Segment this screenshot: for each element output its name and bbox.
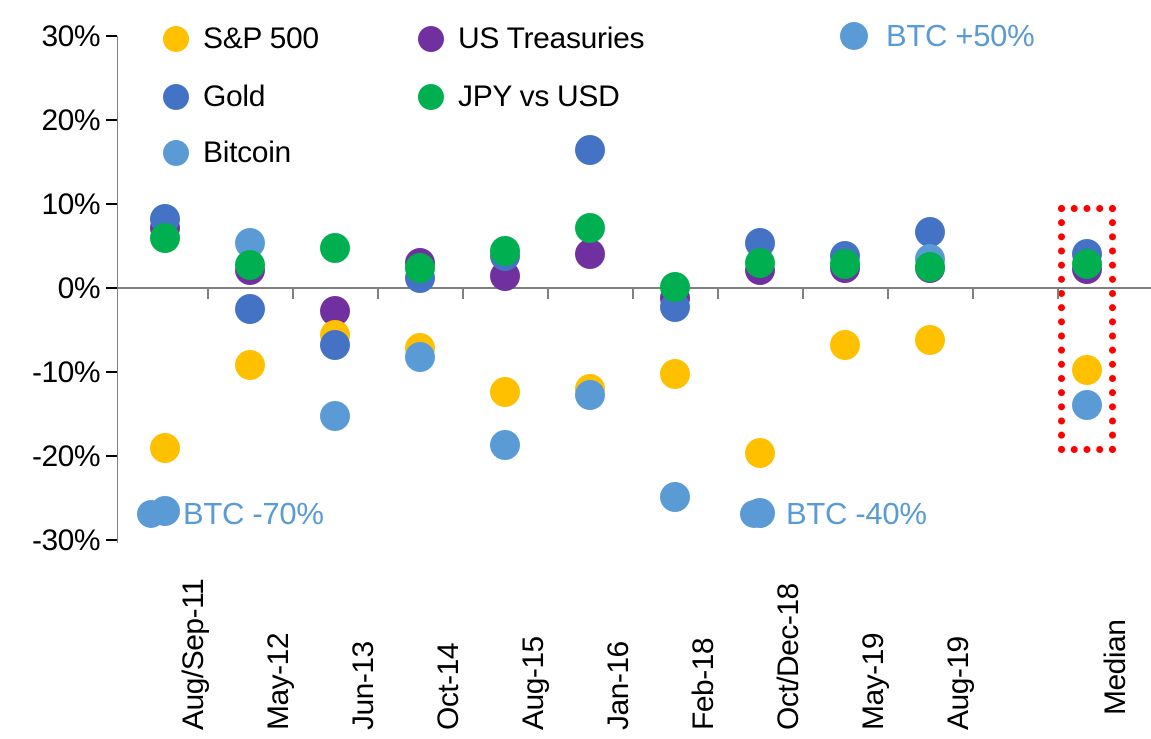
y-tick-neg10 <box>106 371 117 373</box>
y-tick-0 <box>106 287 117 289</box>
y-axis-line <box>117 36 118 543</box>
y-tick-label-neg30: -30% <box>0 524 100 558</box>
data-point-bitcoin-jan-16 <box>575 380 605 410</box>
legend-label-bitcoin: Bitcoin <box>203 136 291 170</box>
x-axis-zero-line <box>117 287 1151 289</box>
data-point-us-treasuries-jan-16 <box>575 239 605 269</box>
x-axis-label-jan-16: Jan-16 <box>602 641 636 730</box>
legend-swatch-us-treasuries <box>418 26 444 52</box>
annotation-label-btc-plus-50: BTC +50% <box>886 18 1034 54</box>
data-point-jpy-vs-usd-aug-19 <box>915 252 945 282</box>
legend-swatch-jpy-vs-usd <box>418 84 444 110</box>
data-point-s-p-500-aug-19 <box>915 325 945 355</box>
data-point-bitcoin-oct-14 <box>405 342 435 372</box>
data-point-s-p-500-may-19 <box>830 330 860 360</box>
legend-swatch-bitcoin <box>163 140 189 166</box>
data-point-bitcoin-feb-18 <box>660 482 690 512</box>
y-tick-30 <box>106 35 117 37</box>
x-tick-4 <box>462 287 464 299</box>
x-tick-8 <box>802 287 804 299</box>
data-point-jpy-vs-usd-feb-18 <box>660 272 690 302</box>
legend-item-sp500: S&P 500 <box>163 22 319 56</box>
legend-label-us-treasuries: US Treasuries <box>458 22 644 56</box>
y-tick-20 <box>106 119 117 121</box>
data-point-s-p-500-aug-15 <box>490 377 520 407</box>
legend-label-gold: Gold <box>203 80 265 114</box>
data-point-gold-jan-16 <box>575 135 605 165</box>
annotation-label-btc-minus-70: BTC -70% <box>183 496 324 532</box>
legend-item-bitcoin: Bitcoin <box>163 136 291 170</box>
legend-label-sp500: S&P 500 <box>203 22 319 56</box>
data-point-s-p-500-aug-sep-11 <box>150 433 180 463</box>
annotation-label-btc-minus-40: BTC -40% <box>786 496 927 532</box>
x-tick-1 <box>207 287 209 299</box>
data-point-jpy-vs-usd-jan-16 <box>575 213 605 243</box>
x-axis-label-aug-sep-11: Aug/Sep-11 <box>177 579 211 730</box>
data-point-gold-may-12 <box>235 294 265 324</box>
data-point-jpy-vs-usd-oct-dec-18 <box>745 248 775 278</box>
data-point-jpy-vs-usd-aug-sep-11 <box>150 223 180 253</box>
data-point-jpy-vs-usd-aug-15 <box>490 236 520 266</box>
x-tick-9 <box>887 287 889 299</box>
annotation-btc-plus-50: BTC +50% <box>840 18 1034 54</box>
legend-swatch-gold <box>163 84 189 110</box>
x-tick-3 <box>377 287 379 299</box>
x-tick-10 <box>972 287 974 299</box>
y-tick-neg20 <box>106 455 117 457</box>
legend-label-jpy-vs-usd: JPY vs USD <box>458 80 620 114</box>
legend-swatch-sp500 <box>163 26 189 52</box>
x-axis-label-jun-13: Jun-13 <box>347 641 381 730</box>
data-point-bitcoin-jun-13 <box>320 401 350 431</box>
y-tick-label-30: 30% <box>0 20 100 54</box>
y-tick-10 <box>106 203 117 205</box>
y-tick-label-10: 10% <box>0 188 100 222</box>
data-point-bitcoin-median <box>1072 390 1102 420</box>
x-axis-label-aug-15: Aug-15 <box>517 636 551 730</box>
legend-item-gold: Gold <box>163 80 265 114</box>
x-tick-11 <box>1057 287 1059 299</box>
legend-item-jpy-vs-usd: JPY vs USD <box>418 80 620 114</box>
x-axis-label-oct-dec-18: Oct/Dec-18 <box>772 583 806 730</box>
data-point-jpy-vs-usd-jun-13 <box>320 233 350 263</box>
data-point-bitcoin-aug-15 <box>490 430 520 460</box>
y-tick-label-neg10: -10% <box>0 356 100 390</box>
y-tick-label-neg20: -20% <box>0 440 100 474</box>
data-point-s-p-500-feb-18 <box>660 359 690 389</box>
x-axis-label-aug-19: Aug-19 <box>942 636 976 730</box>
data-point-bitcoin-oct-dec-18 <box>745 498 775 528</box>
y-tick-label-0: 0% <box>0 272 100 306</box>
chart-container: 30% 20% 10% 0% -10% -20% -30% S&P 500 Go… <box>0 0 1151 739</box>
data-point-gold-aug-19 <box>915 217 945 247</box>
x-axis-label-may-12: May-12 <box>262 633 296 730</box>
data-point-jpy-vs-usd-median <box>1072 249 1102 279</box>
data-point-s-p-500-oct-dec-18 <box>745 438 775 468</box>
data-point-s-p-500-may-12 <box>235 350 265 380</box>
btc-dot-icon <box>840 22 868 50</box>
x-axis-label-oct-14: Oct-14 <box>432 643 466 730</box>
data-point-bitcoin-aug-sep-11 <box>150 496 180 526</box>
x-axis-label-may-19: May-19 <box>857 633 891 730</box>
x-tick-5 <box>547 287 549 299</box>
x-tick-7 <box>717 287 719 299</box>
x-axis-label-feb-18: Feb-18 <box>687 638 721 730</box>
y-tick-neg30 <box>106 539 117 541</box>
legend-item-us-treasuries: US Treasuries <box>418 22 644 56</box>
x-tick-2 <box>292 287 294 299</box>
x-tick-6 <box>632 287 634 299</box>
data-point-gold-jun-13 <box>320 330 350 360</box>
x-axis-label-median: Median <box>1099 620 1133 715</box>
y-tick-label-20: 20% <box>0 104 100 138</box>
data-point-jpy-vs-usd-oct-14 <box>405 253 435 283</box>
